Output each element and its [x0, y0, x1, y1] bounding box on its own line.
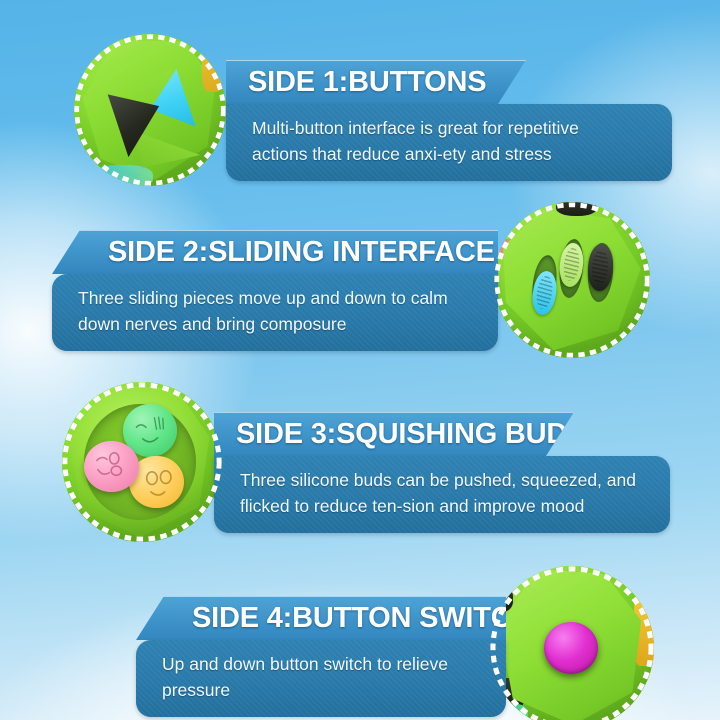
- feature-title-side-1: SIDE 1:BUTTONS: [248, 68, 486, 97]
- feature-title-bar-side-4: SIDE 4:BUTTON SWITCH: [136, 596, 506, 640]
- teal-edge-accent: [92, 165, 153, 186]
- fidget-cube-button-switch-face: [490, 566, 654, 720]
- feature-title-side-3: SIDE 3:SQUISHING BUDS: [236, 420, 586, 449]
- feature-title-side-2: SIDE 2:SLIDING INTERFACE: [108, 238, 495, 267]
- gold-edge-accent: [202, 40, 223, 92]
- product-image-side-2: [494, 202, 650, 358]
- feature-banner-side-4: SIDE 4:BUTTON SWITCH Up and down button …: [136, 596, 506, 717]
- infographic-page: SIDE 1:BUTTONS Multi-button interface is…: [0, 0, 720, 720]
- feature-banner-side-1: SIDE 1:BUTTONS Multi-button interface is…: [226, 60, 672, 181]
- feature-description-side-2: Three sliding pieces move up and down to…: [78, 286, 472, 337]
- feature-title-side-4: SIDE 4:BUTTON SWITCH: [192, 604, 532, 633]
- fidget-cube-sliders-face: [494, 202, 650, 358]
- feature-body-panel-side-3: Three silicone buds can be pushed, squee…: [214, 456, 670, 533]
- feature-banner-side-3: SIDE 3:SQUISHING BUDS Three silicone bud…: [214, 412, 670, 533]
- feature-description-side-4: Up and down button switch to relieve pre…: [162, 652, 480, 703]
- product-image-side-1: [74, 34, 226, 186]
- fidget-cube-squishing-buds-face: [62, 382, 222, 542]
- dark-edge-accent: [556, 202, 597, 216]
- feature-body-panel-side-2: Three sliding pieces move up and down to…: [52, 274, 498, 351]
- product-image-side-3: [62, 382, 222, 542]
- product-image-side-4: [490, 566, 654, 720]
- silicone-bud-pink: [84, 441, 138, 492]
- feature-body-panel-side-4: Up and down button switch to relieve pre…: [136, 640, 506, 717]
- mint-edge-accent: [613, 342, 638, 358]
- feature-description-side-1: Multi-button interface is great for repe…: [252, 116, 646, 167]
- feature-title-bar-side-2: SIDE 2:SLIDING INTERFACE: [52, 230, 498, 274]
- feature-description-side-3: Three silicone buds can be pushed, squee…: [240, 468, 644, 519]
- feature-title-bar-side-1: SIDE 1:BUTTONS: [226, 60, 526, 104]
- feature-body-panel-side-1: Multi-button interface is great for repe…: [226, 104, 672, 181]
- bud-face-icon: [84, 441, 138, 492]
- fidget-cube-buttons-face: [74, 34, 226, 186]
- feature-banner-side-2: SIDE 2:SLIDING INTERFACE Three sliding p…: [52, 230, 498, 351]
- feature-title-bar-side-3: SIDE 3:SQUISHING BUDS: [214, 412, 574, 456]
- magenta-push-button: [544, 622, 598, 674]
